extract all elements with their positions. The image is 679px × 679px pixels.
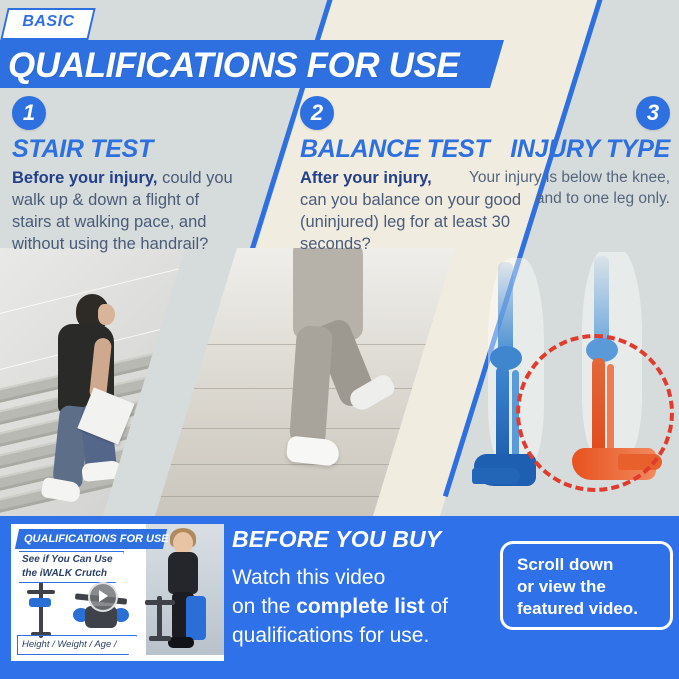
column-lead: Before your injury, bbox=[12, 169, 157, 187]
headline-banner: QUALIFICATIONS FOR USE bbox=[0, 40, 504, 88]
injury-highlight-circle bbox=[516, 334, 674, 492]
bb-line-2-post: of bbox=[425, 595, 448, 618]
scroll-line-1: Scroll down bbox=[517, 555, 613, 574]
bb-line-2-pre: on the bbox=[232, 595, 296, 618]
before-you-buy-title: BEFORE YOU BUY bbox=[232, 526, 482, 553]
column-body: Before your injury, could you walk up & … bbox=[12, 167, 242, 255]
scroll-down-text: Scroll down or view the featured video. bbox=[503, 544, 670, 620]
page-title: QUALIFICATIONS FOR USE bbox=[0, 40, 504, 88]
step-number-badge: 2 bbox=[300, 96, 334, 130]
bb-line-3: qualifications for use. bbox=[232, 624, 429, 647]
thumbnail-banner-label: QUALIFICATIONS FOR USE bbox=[17, 529, 165, 549]
column-lead: After your injury, bbox=[300, 169, 432, 187]
scroll-line-2: or view the bbox=[517, 577, 606, 596]
bb-line-1: Watch this video bbox=[232, 566, 385, 589]
before-you-buy-body: Watch this video on the complete list of… bbox=[232, 563, 482, 650]
thumbnail-banner: QUALIFICATIONS FOR USE bbox=[15, 529, 167, 549]
scroll-line-3: featured video. bbox=[517, 599, 638, 618]
step-number-badge: 1 bbox=[12, 96, 46, 130]
column-title: INJURY TYPE bbox=[448, 136, 670, 163]
column-stair-test: 1 STAIR TEST Before your injury, could y… bbox=[12, 96, 242, 255]
thumbnail-subtitle-line1: See if You Can Use bbox=[19, 552, 123, 566]
bb-line-2-bold: complete list bbox=[296, 595, 424, 618]
basic-tag: BASIC bbox=[0, 8, 95, 40]
column-injury-type: 3 INJURY TYPE Your injury is below the k… bbox=[448, 96, 670, 209]
before-you-buy-block: BEFORE YOU BUY Watch this video on the c… bbox=[232, 526, 482, 650]
crutch-device-1 bbox=[25, 582, 61, 642]
step-number-badge: 3 bbox=[636, 96, 670, 130]
injury-type-illustration bbox=[430, 252, 679, 516]
basic-tag-label: BASIC bbox=[6, 10, 90, 34]
poster: BASIC QUALIFICATIONS FOR USE 1 STAIR TES… bbox=[0, 0, 679, 679]
scroll-down-callout: Scroll down or view the featured video. bbox=[500, 541, 673, 630]
thumbnail-subtitle: See if You Can Use the iWALK Crutch bbox=[19, 551, 124, 583]
thumbnail-subtitle-line2: the iWALK Crutch bbox=[19, 566, 123, 580]
play-icon[interactable] bbox=[88, 582, 118, 612]
column-title: STAIR TEST bbox=[12, 136, 242, 163]
thumbnail-footer-label: Height / Weight / Age / Other bbox=[18, 636, 136, 664]
crutch-device-3 bbox=[131, 582, 191, 644]
column-body: Your injury is below the knee, and to on… bbox=[448, 167, 670, 209]
thumbnail-footer: Height / Weight / Age / Other bbox=[17, 635, 137, 655]
